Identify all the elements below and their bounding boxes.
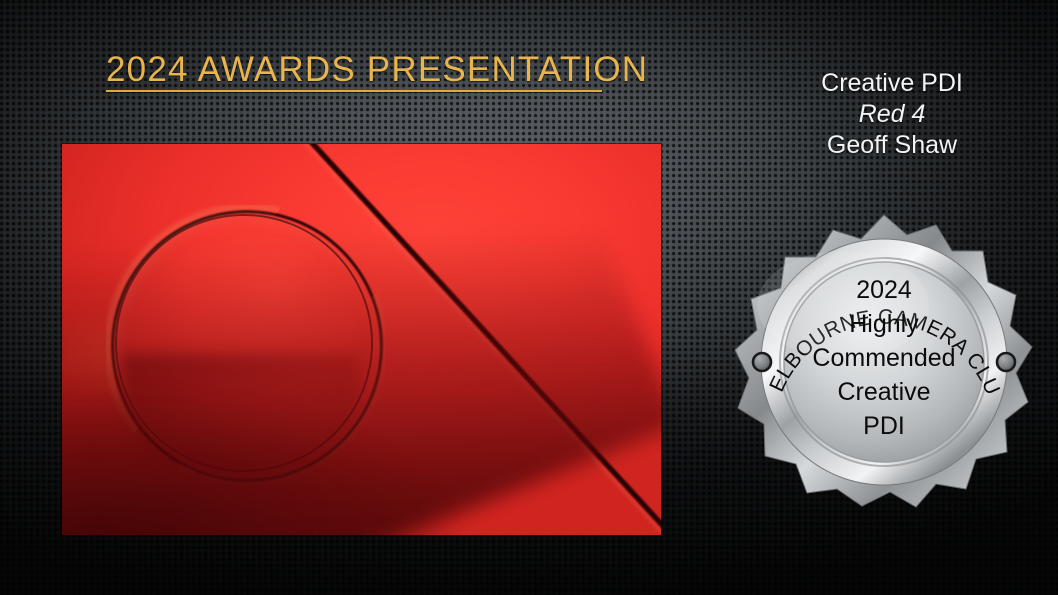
award-photograph [62,144,661,535]
caption-category: Creative PDI [742,68,1042,99]
rivet-right-icon [997,353,1015,371]
awards-presentation-slide: 2024 AWARDS PRESENTATION Creative PDI Re… [0,0,1058,595]
title-underline [106,90,602,92]
caption-image-title: Red 4 [742,99,1042,130]
slide-title-block: 2024 AWARDS PRESENTATION [106,52,666,92]
badge-sheen [757,251,929,359]
caption-author: Geoff Shaw [742,130,1042,161]
rivet-left-icon [753,353,771,371]
award-badge: MELBOURNE CAMERA CLUB 2024 Highly Commen… [733,213,1035,511]
photo-corner-shadow [62,340,469,536]
page-title: 2024 AWARDS PRESENTATION [106,52,666,88]
badge-graphic: MELBOURNE CAMERA CLUB [733,213,1035,511]
award-caption-block: Creative PDI Red 4 Geoff Shaw [742,68,1042,161]
